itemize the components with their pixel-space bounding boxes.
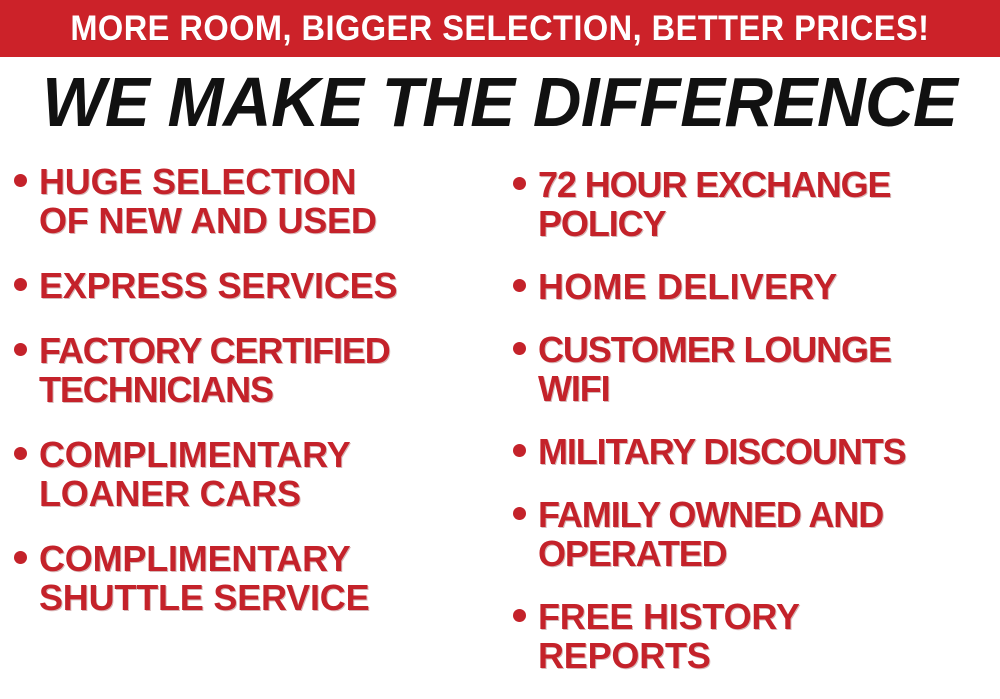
benefit-item: HOME DELIVERY bbox=[513, 267, 1000, 306]
bullet-icon bbox=[14, 174, 27, 187]
benefit-label-military-discounts: MILITARY DISCOUNTS bbox=[538, 432, 906, 471]
bullet-icon bbox=[14, 447, 27, 460]
headline-container: WE MAKE THE DIFFERENCE bbox=[0, 63, 1000, 141]
benefit-label-customer-lounge-wifi: CUSTOMER LOUNGE WIFI bbox=[538, 330, 891, 408]
promo-banner: MORE ROOM, BIGGER SELECTION, BETTER PRIC… bbox=[0, 0, 1000, 57]
benefit-label-family-owned-and-operated: FAMILY OWNED AND OPERATED bbox=[538, 495, 883, 573]
benefits-column-right: 72 HOUR EXCHANGE POLICY HOME DELIVERY CU… bbox=[505, 152, 1000, 699]
benefit-item: EXPRESS SERVICES bbox=[14, 266, 505, 305]
bullet-icon bbox=[513, 507, 526, 520]
benefits-column-left: HUGE SELECTION OF NEW AND USED EXPRESS S… bbox=[0, 152, 505, 643]
bullet-icon bbox=[14, 343, 27, 356]
bullet-icon bbox=[513, 609, 526, 622]
bullet-icon bbox=[14, 551, 27, 564]
benefit-item: 72 HOUR EXCHANGE POLICY bbox=[513, 165, 1000, 243]
benefit-label-complimentary-shuttle-service: COMPLIMENTARY SHUTTLE SERVICE bbox=[39, 539, 369, 617]
benefit-item: MILITARY DISCOUNTS bbox=[513, 432, 1000, 471]
bullet-icon bbox=[14, 278, 27, 291]
benefits-columns: HUGE SELECTION OF NEW AND USED EXPRESS S… bbox=[0, 152, 1000, 694]
benefit-item: FREE HISTORY REPORTS bbox=[513, 597, 1000, 675]
benefit-label-free-history-reports: FREE HISTORY REPORTS bbox=[538, 597, 800, 675]
benefit-item: FACTORY CERTIFIED TECHNICIANS bbox=[14, 331, 505, 409]
page-title: WE MAKE THE DIFFERENCE bbox=[42, 67, 957, 137]
benefit-label-complimentary-loaner-cars: COMPLIMENTARY LOANER CARS bbox=[39, 435, 350, 513]
bullet-icon bbox=[513, 444, 526, 457]
benefit-label-factory-certified-technicians: FACTORY CERTIFIED TECHNICIANS bbox=[39, 331, 390, 409]
benefit-item: FAMILY OWNED AND OPERATED bbox=[513, 495, 1000, 573]
benefit-item: COMPLIMENTARY LOANER CARS bbox=[14, 435, 505, 513]
benefit-item: CUSTOMER LOUNGE WIFI bbox=[513, 330, 1000, 408]
bullet-icon bbox=[513, 177, 526, 190]
benefit-label-express-services: EXPRESS SERVICES bbox=[39, 266, 397, 305]
bullet-icon bbox=[513, 342, 526, 355]
benefit-label-72-hour-exchange-policy: 72 HOUR EXCHANGE POLICY bbox=[538, 165, 890, 243]
benefit-label-huge-selection: HUGE SELECTION OF NEW AND USED bbox=[39, 162, 377, 240]
benefit-label-home-delivery: HOME DELIVERY bbox=[538, 267, 837, 306]
benefit-item: COMPLIMENTARY SHUTTLE SERVICE bbox=[14, 539, 505, 617]
bullet-icon bbox=[513, 279, 526, 292]
promo-banner-text: MORE ROOM, BIGGER SELECTION, BETTER PRIC… bbox=[70, 11, 929, 46]
benefit-item: HUGE SELECTION OF NEW AND USED bbox=[14, 162, 505, 240]
